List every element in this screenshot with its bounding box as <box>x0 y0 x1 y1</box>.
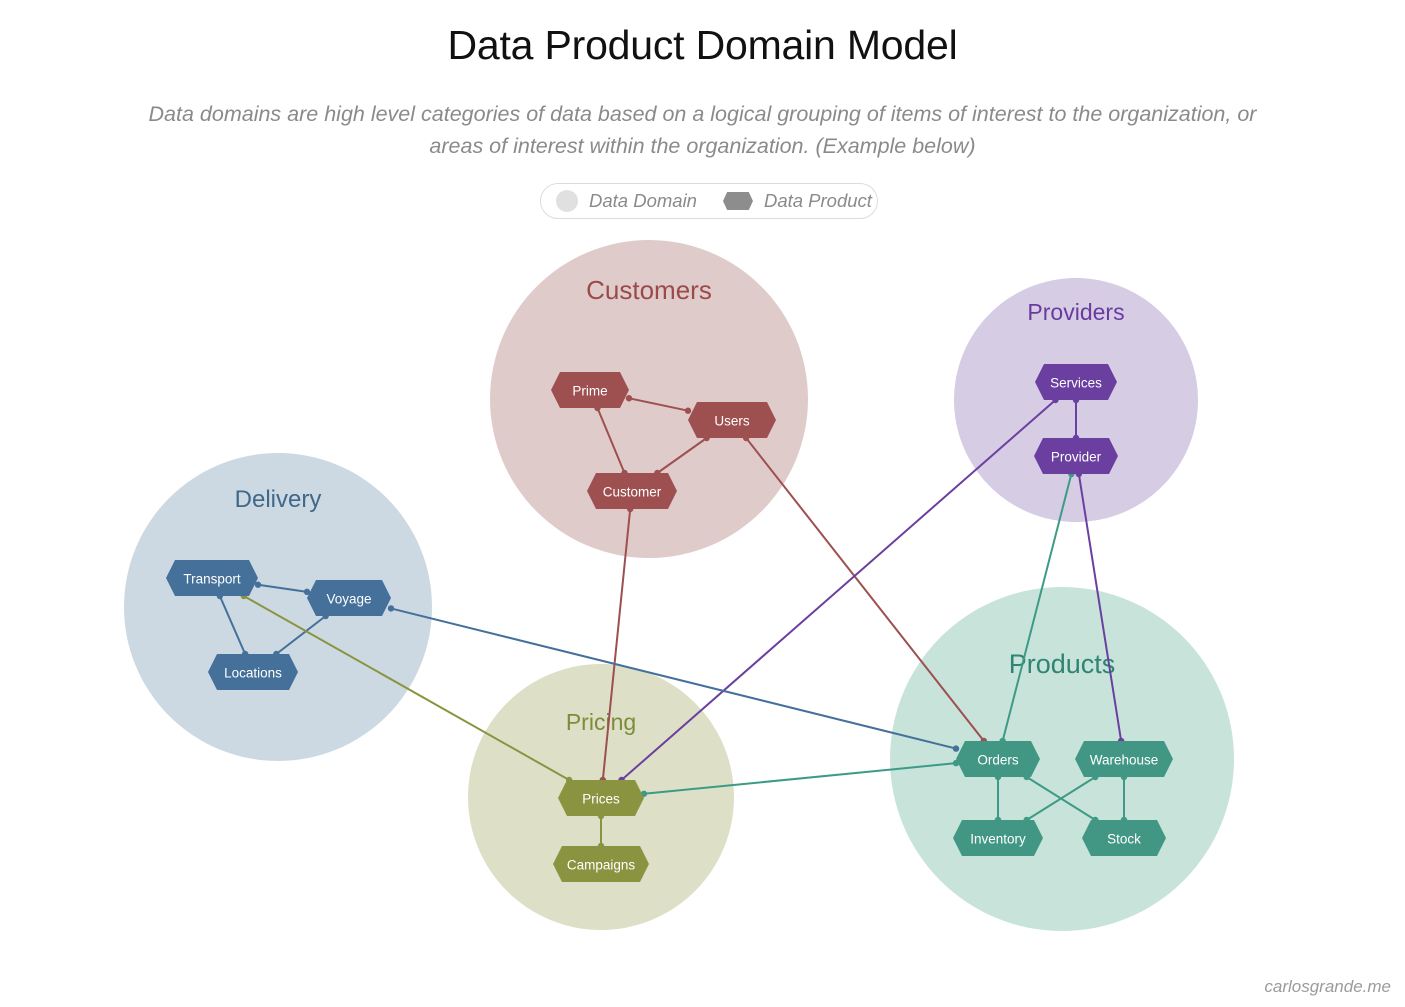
data-product-node-stock[interactable]: Stock <box>1082 820 1166 856</box>
data-product-node-inventory[interactable]: Inventory <box>953 820 1043 856</box>
domain-graph: CustomersProvidersDeliveryPricingProduct… <box>0 0 1405 1007</box>
data-product-node-services[interactable]: Services <box>1035 364 1117 400</box>
domain-circle-products[interactable] <box>890 587 1234 931</box>
diagram-canvas: Data Product Domain Model Data domains a… <box>0 0 1405 1007</box>
domain-label-delivery: Delivery <box>235 486 322 513</box>
footer-credit: carlosgrande.me <box>1264 977 1391 997</box>
data-product-node-locations[interactable]: Locations <box>208 654 298 690</box>
node-label-transport: Transport <box>183 572 241 587</box>
data-product-node-prices[interactable]: Prices <box>558 780 644 816</box>
data-product-node-warehouse[interactable]: Warehouse <box>1075 741 1173 777</box>
data-product-node-voyage[interactable]: Voyage <box>307 580 391 616</box>
domain-label-pricing: Pricing <box>566 709 636 735</box>
node-label-warehouse: Warehouse <box>1090 753 1159 768</box>
node-label-locations: Locations <box>224 666 282 681</box>
data-product-node-users[interactable]: Users <box>688 402 776 438</box>
data-product-node-provider[interactable]: Provider <box>1034 438 1118 474</box>
node-label-prices: Prices <box>582 792 620 807</box>
domain-circles-layer <box>124 240 1234 931</box>
node-label-users: Users <box>714 414 750 429</box>
node-label-inventory: Inventory <box>970 832 1026 847</box>
node-label-provider: Provider <box>1051 450 1102 465</box>
domain-label-customers: Customers <box>586 275 712 305</box>
edge-endpoint-dot <box>685 408 691 414</box>
data-product-node-prime[interactable]: Prime <box>551 372 629 408</box>
edge-endpoint-dot <box>953 745 959 751</box>
node-label-prime: Prime <box>572 384 607 399</box>
node-label-stock: Stock <box>1107 832 1141 847</box>
data-product-node-customer[interactable]: Customer <box>587 473 677 509</box>
edge-users-orders <box>746 438 984 741</box>
edge-endpoint-dot <box>388 605 394 611</box>
data-product-node-transport[interactable]: Transport <box>166 560 258 596</box>
domain-label-providers: Providers <box>1027 299 1124 325</box>
data-product-node-orders[interactable]: Orders <box>956 741 1040 777</box>
node-label-services: Services <box>1050 376 1102 391</box>
node-label-campaigns: Campaigns <box>567 858 636 873</box>
node-label-customer: Customer <box>603 485 662 500</box>
node-label-orders: Orders <box>977 753 1019 768</box>
data-product-node-campaigns[interactable]: Campaigns <box>553 846 649 882</box>
node-label-voyage: Voyage <box>326 592 371 607</box>
edge-endpoint-dot <box>626 395 632 401</box>
